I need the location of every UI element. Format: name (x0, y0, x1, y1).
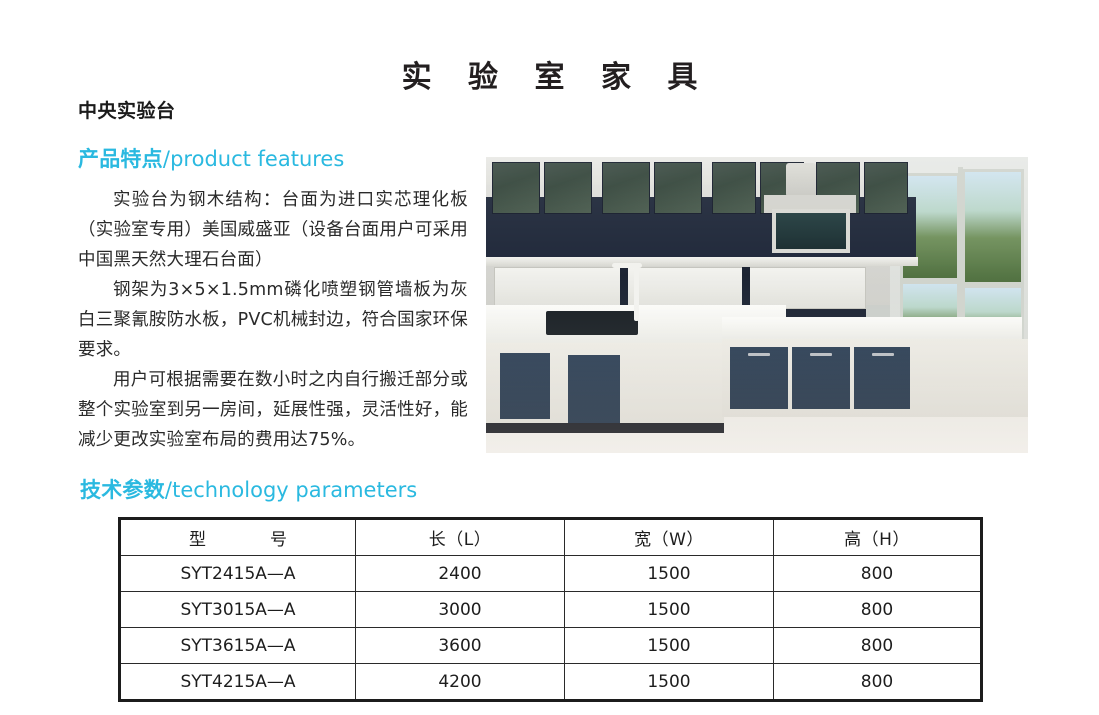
product-features-heading-slash: / (163, 147, 170, 171)
photo-glass-door-8 (864, 162, 908, 214)
features-column: 中央实验台 产品特点/product features 实验台为钢木结构：台面为… (78, 96, 468, 455)
page-title: 实 验 室 家 具 (0, 52, 1099, 96)
photo-drawer-pull-2 (810, 353, 832, 356)
technology-parameters-heading-en: technology parameters (172, 478, 417, 502)
cell-length: 4200 (356, 664, 565, 701)
technology-parameters-heading-slash: / (165, 478, 172, 502)
photo-island-door-2 (568, 355, 620, 423)
table-row: SYT3015A—A 3000 1500 800 (120, 592, 982, 628)
cell-length: 3000 (356, 592, 565, 628)
product-features-heading-en: product features (170, 147, 344, 171)
cell-height: 800 (774, 556, 982, 592)
photo-drawer-pull-1 (748, 353, 770, 356)
photo-reagent-shelf-right (748, 267, 866, 309)
cell-length: 3600 (356, 628, 565, 664)
cell-height: 800 (774, 664, 982, 701)
photo-island-kickplate (486, 423, 724, 433)
cell-model: SYT4215A—A (120, 664, 356, 701)
photo-glass-door-5 (712, 162, 756, 214)
photo-glass-door-4 (654, 162, 702, 214)
feature-paragraph-1: 实验台为钢木结构：台面为进口实芯理化板（实验室专用）美国威盛亚（设备台面用户可采… (78, 185, 468, 275)
photo-right-door-3 (854, 347, 910, 409)
cell-model: SYT3015A—A (120, 592, 356, 628)
technology-parameters-heading-cn: 技术参数 (80, 478, 165, 502)
cell-height: 800 (774, 628, 982, 664)
photo-duct (786, 163, 816, 197)
table-header-height: 高（H） (774, 519, 982, 556)
photo-glass-door-1 (492, 162, 540, 214)
table-row: SYT3615A—A 3600 1500 800 (120, 628, 982, 664)
product-features-heading-cn: 产品特点 (78, 147, 163, 171)
cell-length: 2400 (356, 556, 565, 592)
photo-glass-door-3 (602, 162, 650, 214)
photo-faucet-neck (634, 265, 639, 321)
photo-sink (546, 311, 638, 335)
table-header-width: 宽（W） (565, 519, 774, 556)
specifications-table: 型 号 长（L） 宽（W） 高（H） SYT2415A—A 2400 1500 … (118, 517, 983, 702)
photo-faucet-spout (612, 263, 642, 268)
photo-reagent-shelf-left (494, 267, 622, 309)
features-body: 实验台为钢木结构：台面为进口实芯理化板（实验室专用）美国威盛亚（设备台面用户可采… (78, 185, 468, 455)
photo-glass-door-2 (544, 162, 592, 214)
table-row: SYT4215A—A 4200 1500 800 (120, 664, 982, 701)
photo-right-door-1 (730, 347, 788, 409)
cell-width: 1500 (565, 592, 774, 628)
table-header-model: 型 号 (120, 519, 356, 556)
photo-upper-shelf-edge (486, 257, 918, 266)
product-features-heading: 产品特点/product features (78, 143, 468, 173)
cell-width: 1500 (565, 664, 774, 701)
photo-island-door-1 (500, 353, 550, 419)
tech-heading-wrap: 技术参数/technology parameters (80, 474, 417, 504)
photo-right-door-2 (792, 347, 850, 409)
cell-model: SYT3615A—A (120, 628, 356, 664)
feature-paragraph-2: 钢架为3×5×1.5mm磷化喷塑钢管墙板为灰白三聚氰胺防水板，PVC机械封边，符… (78, 275, 468, 365)
table-header-length: 长（L） (356, 519, 565, 556)
cell-width: 1500 (565, 628, 774, 664)
photo-reagent-shelf-mid (626, 267, 744, 309)
photo-hood-face (772, 209, 850, 253)
table-row: SYT2415A—A 2400 1500 800 (120, 556, 982, 592)
photo-drawer-pull-3 (872, 353, 894, 356)
feature-paragraph-3: 用户可根据需要在数小时之内自行搬迁部分或整个实验室到另一房间，延展性强，灵活性好… (78, 365, 468, 455)
photo-window-2 (962, 169, 1024, 285)
lab-bench-photo (486, 157, 1028, 453)
cell-model: SYT2415A—A (120, 556, 356, 592)
cell-height: 800 (774, 592, 982, 628)
table-header-row: 型 号 长（L） 宽（W） 高（H） (120, 519, 982, 556)
technology-parameters-heading: 技术参数/technology parameters (80, 474, 417, 504)
cell-width: 1500 (565, 556, 774, 592)
section-subtitle: 中央实验台 (78, 96, 468, 123)
